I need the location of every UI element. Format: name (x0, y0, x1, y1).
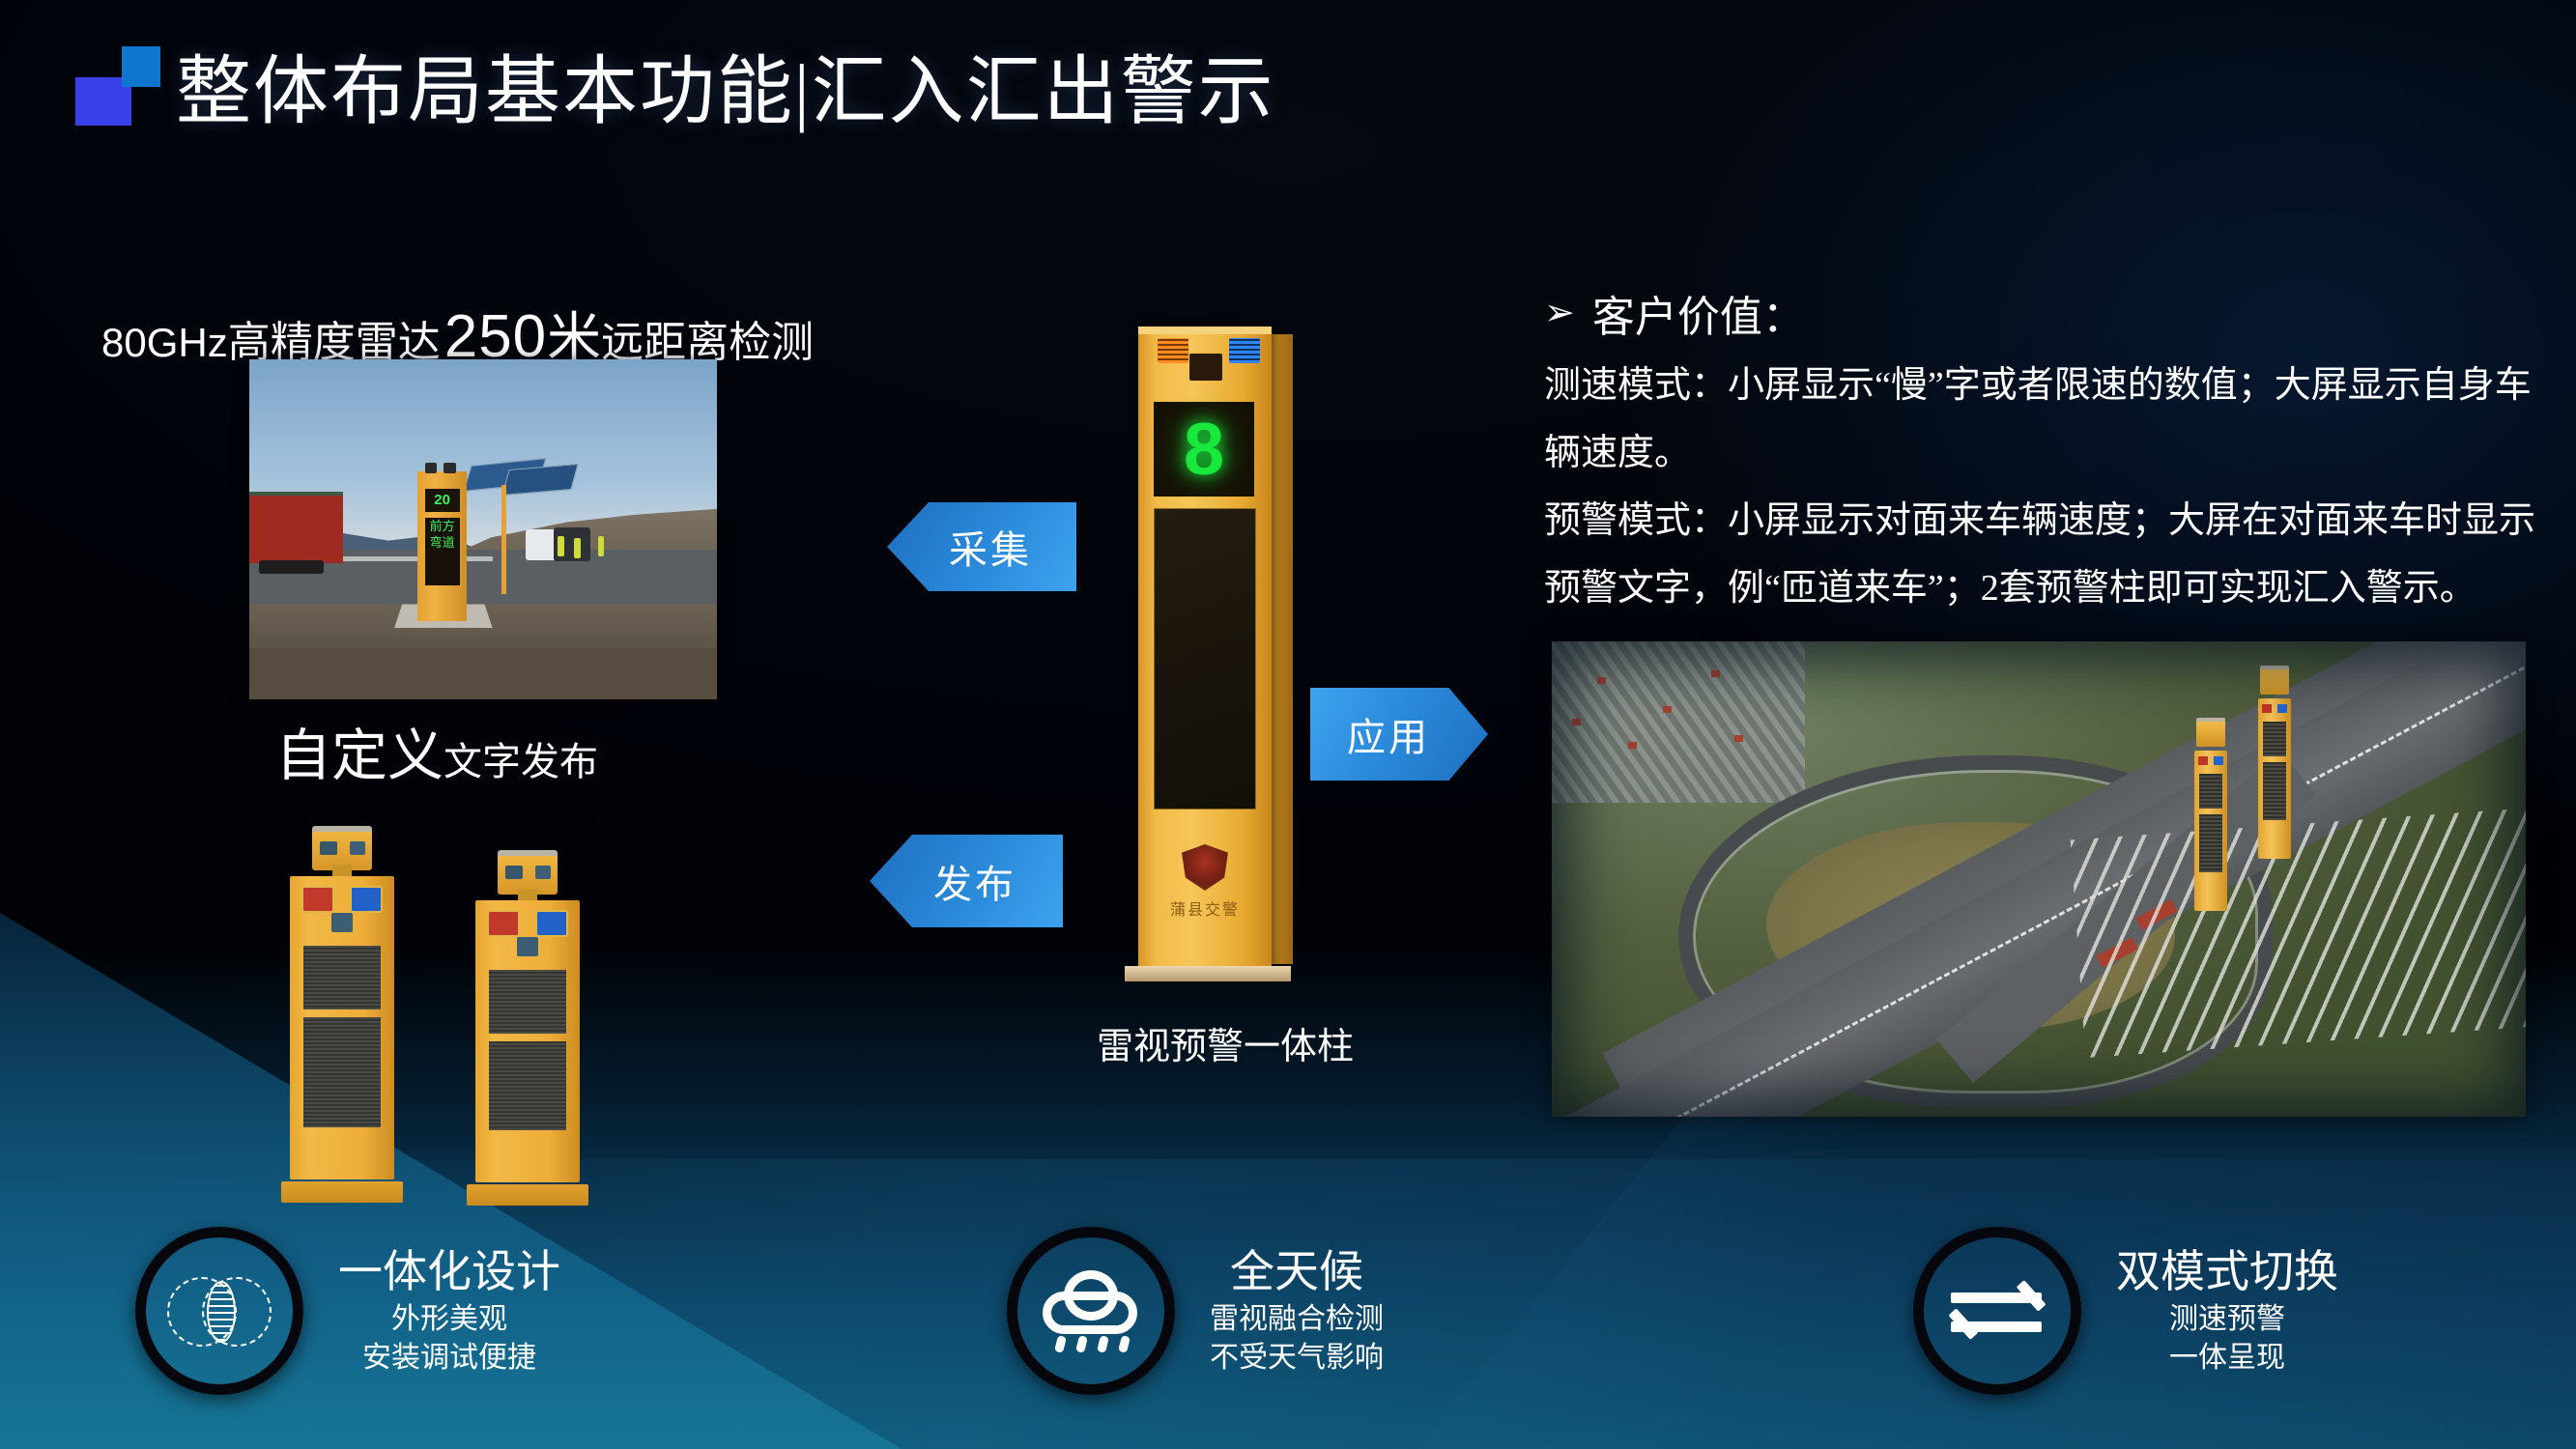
logo-square-cyan (122, 46, 160, 87)
aerial-vignette (1552, 641, 2526, 1117)
feature-sub-line1: 雷视融合检测 (1210, 1300, 1384, 1339)
overlapping-circles-icon (135, 1227, 303, 1395)
aerial-interchange-photo (1552, 641, 2526, 1117)
photo-worker-1 (558, 536, 564, 556)
headline-80ghz: 80GHz (101, 320, 228, 365)
police-badge-icon (1182, 844, 1228, 891)
product-pole-left (290, 826, 394, 1203)
customer-value-para-1-line-2: 辆速度。 (1544, 421, 2539, 485)
flow-arrow-apply-label: 应用 (1347, 706, 1451, 762)
product-pole-right (475, 850, 580, 1206)
feature-all-weather: 全天候 雷视融合检测 不受天气影响 (1007, 1227, 1384, 1395)
photo-pillar-camera-right (444, 463, 456, 473)
photo-worker-2 (574, 538, 581, 558)
pole-base-plate (281, 1181, 402, 1203)
pole-blue-lamp-icon (350, 886, 383, 913)
photo-pillar-speed-led: 20 (425, 489, 460, 513)
pole-camera-icon (1189, 354, 1222, 381)
swap-arrows-icon (1913, 1227, 2081, 1395)
slide-canvas: 整体布局基本功能|汇入汇出警示 80GHz高精度雷达 250米远距离检测 20 … (0, 0, 2576, 1449)
pole-lower-led-screen (489, 1041, 566, 1130)
pole-caption: 雷视预警一体柱 (1080, 1016, 1370, 1069)
pole-foot-plate (1125, 966, 1291, 981)
feature-sub-line2: 安装调试便捷 (338, 1339, 560, 1378)
customer-value-para-1-line-1: 测速模式：小屏显示“慢”字或者限速的数值；大屏显示自身车 (1544, 354, 2539, 417)
pole-radar-module-icon (350, 841, 365, 855)
cloud-rain-icon (1007, 1227, 1175, 1395)
pole-red-lamp-icon (301, 886, 334, 913)
pole-speed-value: 8 (1184, 408, 1224, 492)
photo-red-truck (249, 496, 343, 563)
customer-value-para-2-line-2: 预警文字，例“匝道来车”；2套预警柱即可实现汇入警示。 (1544, 556, 2539, 620)
feature-title: 全天候 (1210, 1244, 1384, 1300)
photo-pillar-text-value: 前方弯道 (425, 518, 460, 551)
pole-camera-lens-icon (320, 841, 337, 855)
feature-sub-line1: 外形美观 (338, 1300, 560, 1339)
pole-upper-led-screen (303, 946, 381, 1009)
pole-speed-led-display: 8 (1154, 402, 1254, 497)
photo-dirt (249, 648, 717, 699)
pole-side-face (1272, 334, 1293, 964)
site-installation-photo: 20 前方弯道 (249, 359, 717, 699)
pole-main-led-screen (1154, 508, 1256, 810)
pole-radar-module-icon (535, 866, 551, 879)
pole-top-cap (1138, 327, 1272, 334)
customer-value-heading: ➢ 客户价值： (1544, 282, 2539, 344)
flow-arrow-collect-label: 采集 (931, 519, 1032, 575)
customer-value-block: ➢ 客户价值： 测速模式：小屏显示“慢”字或者限速的数值；大屏显示自身车 辆速度… (1544, 282, 2539, 624)
custom-text-small: 文字发布 (444, 740, 598, 783)
customer-value-title: 客户价值： (1592, 282, 1805, 344)
slide-title-row: 整体布局基本功能|汇入汇出警示 (75, 46, 1275, 131)
photo-worker-3 (598, 536, 605, 556)
photo-truck-wheels (259, 560, 325, 574)
page-title: 整体布局基本功能|汇入汇出警示 (176, 52, 1275, 131)
feature-sub-line1: 测速预警 (2116, 1300, 2338, 1339)
bullet-arrow-icon: ➢ (1544, 295, 1575, 331)
pole-red-lamp-icon (487, 910, 520, 937)
pole-mini-camera-icon (331, 913, 353, 932)
pole-front-face: 8 蒲县交警 (1138, 327, 1272, 972)
feature-sub-line2: 不受天气影响 (1210, 1339, 1384, 1378)
pole-neck (518, 889, 537, 900)
feature-dual-mode: 双模式切换 测速预警 一体呈现 (1913, 1227, 2338, 1395)
customer-value-para-2-line-1: 预警模式：小屏显示对面来车辆速度；大屏在对面来车时显示 (1544, 489, 2539, 553)
feature-title: 一体化设计 (338, 1244, 560, 1300)
pole-mini-camera-icon (517, 937, 538, 956)
photo-pillar-speed-value: 20 (425, 489, 460, 512)
feature-integrated-design: 一体化设计 外形美观 安装调试便捷 (135, 1227, 560, 1395)
pole-blue-led-lamp-icon (1229, 338, 1260, 363)
pole-neck (332, 865, 352, 876)
photo-pillar-text-led: 前方弯道 (425, 518, 460, 585)
photo-solar-mast (501, 485, 505, 594)
photo-pillar-camera-left (425, 463, 438, 473)
pole-lower-led-screen (303, 1017, 381, 1127)
square-logo-icon (75, 46, 160, 126)
pole-blue-lamp-icon (535, 910, 568, 937)
police-badge-label: 蒲县交警 (1170, 896, 1240, 920)
pole-camera-lens-icon (505, 866, 523, 879)
feature-sub-line2: 一体呈现 (2116, 1339, 2338, 1378)
pole-base-plate (467, 1184, 587, 1206)
pole-upper-led-screen (489, 970, 566, 1034)
feature-title: 双模式切换 (2116, 1244, 2338, 1300)
custom-text-caption: 自定义文字发布 (275, 710, 598, 791)
custom-text-bold: 自定义 (275, 724, 444, 787)
pole-orange-led-lamp-icon (1158, 338, 1188, 363)
integrated-warning-pole: 8 蒲县交警 (1138, 327, 1293, 993)
flow-arrow-publish-label: 发布 (916, 853, 1016, 909)
